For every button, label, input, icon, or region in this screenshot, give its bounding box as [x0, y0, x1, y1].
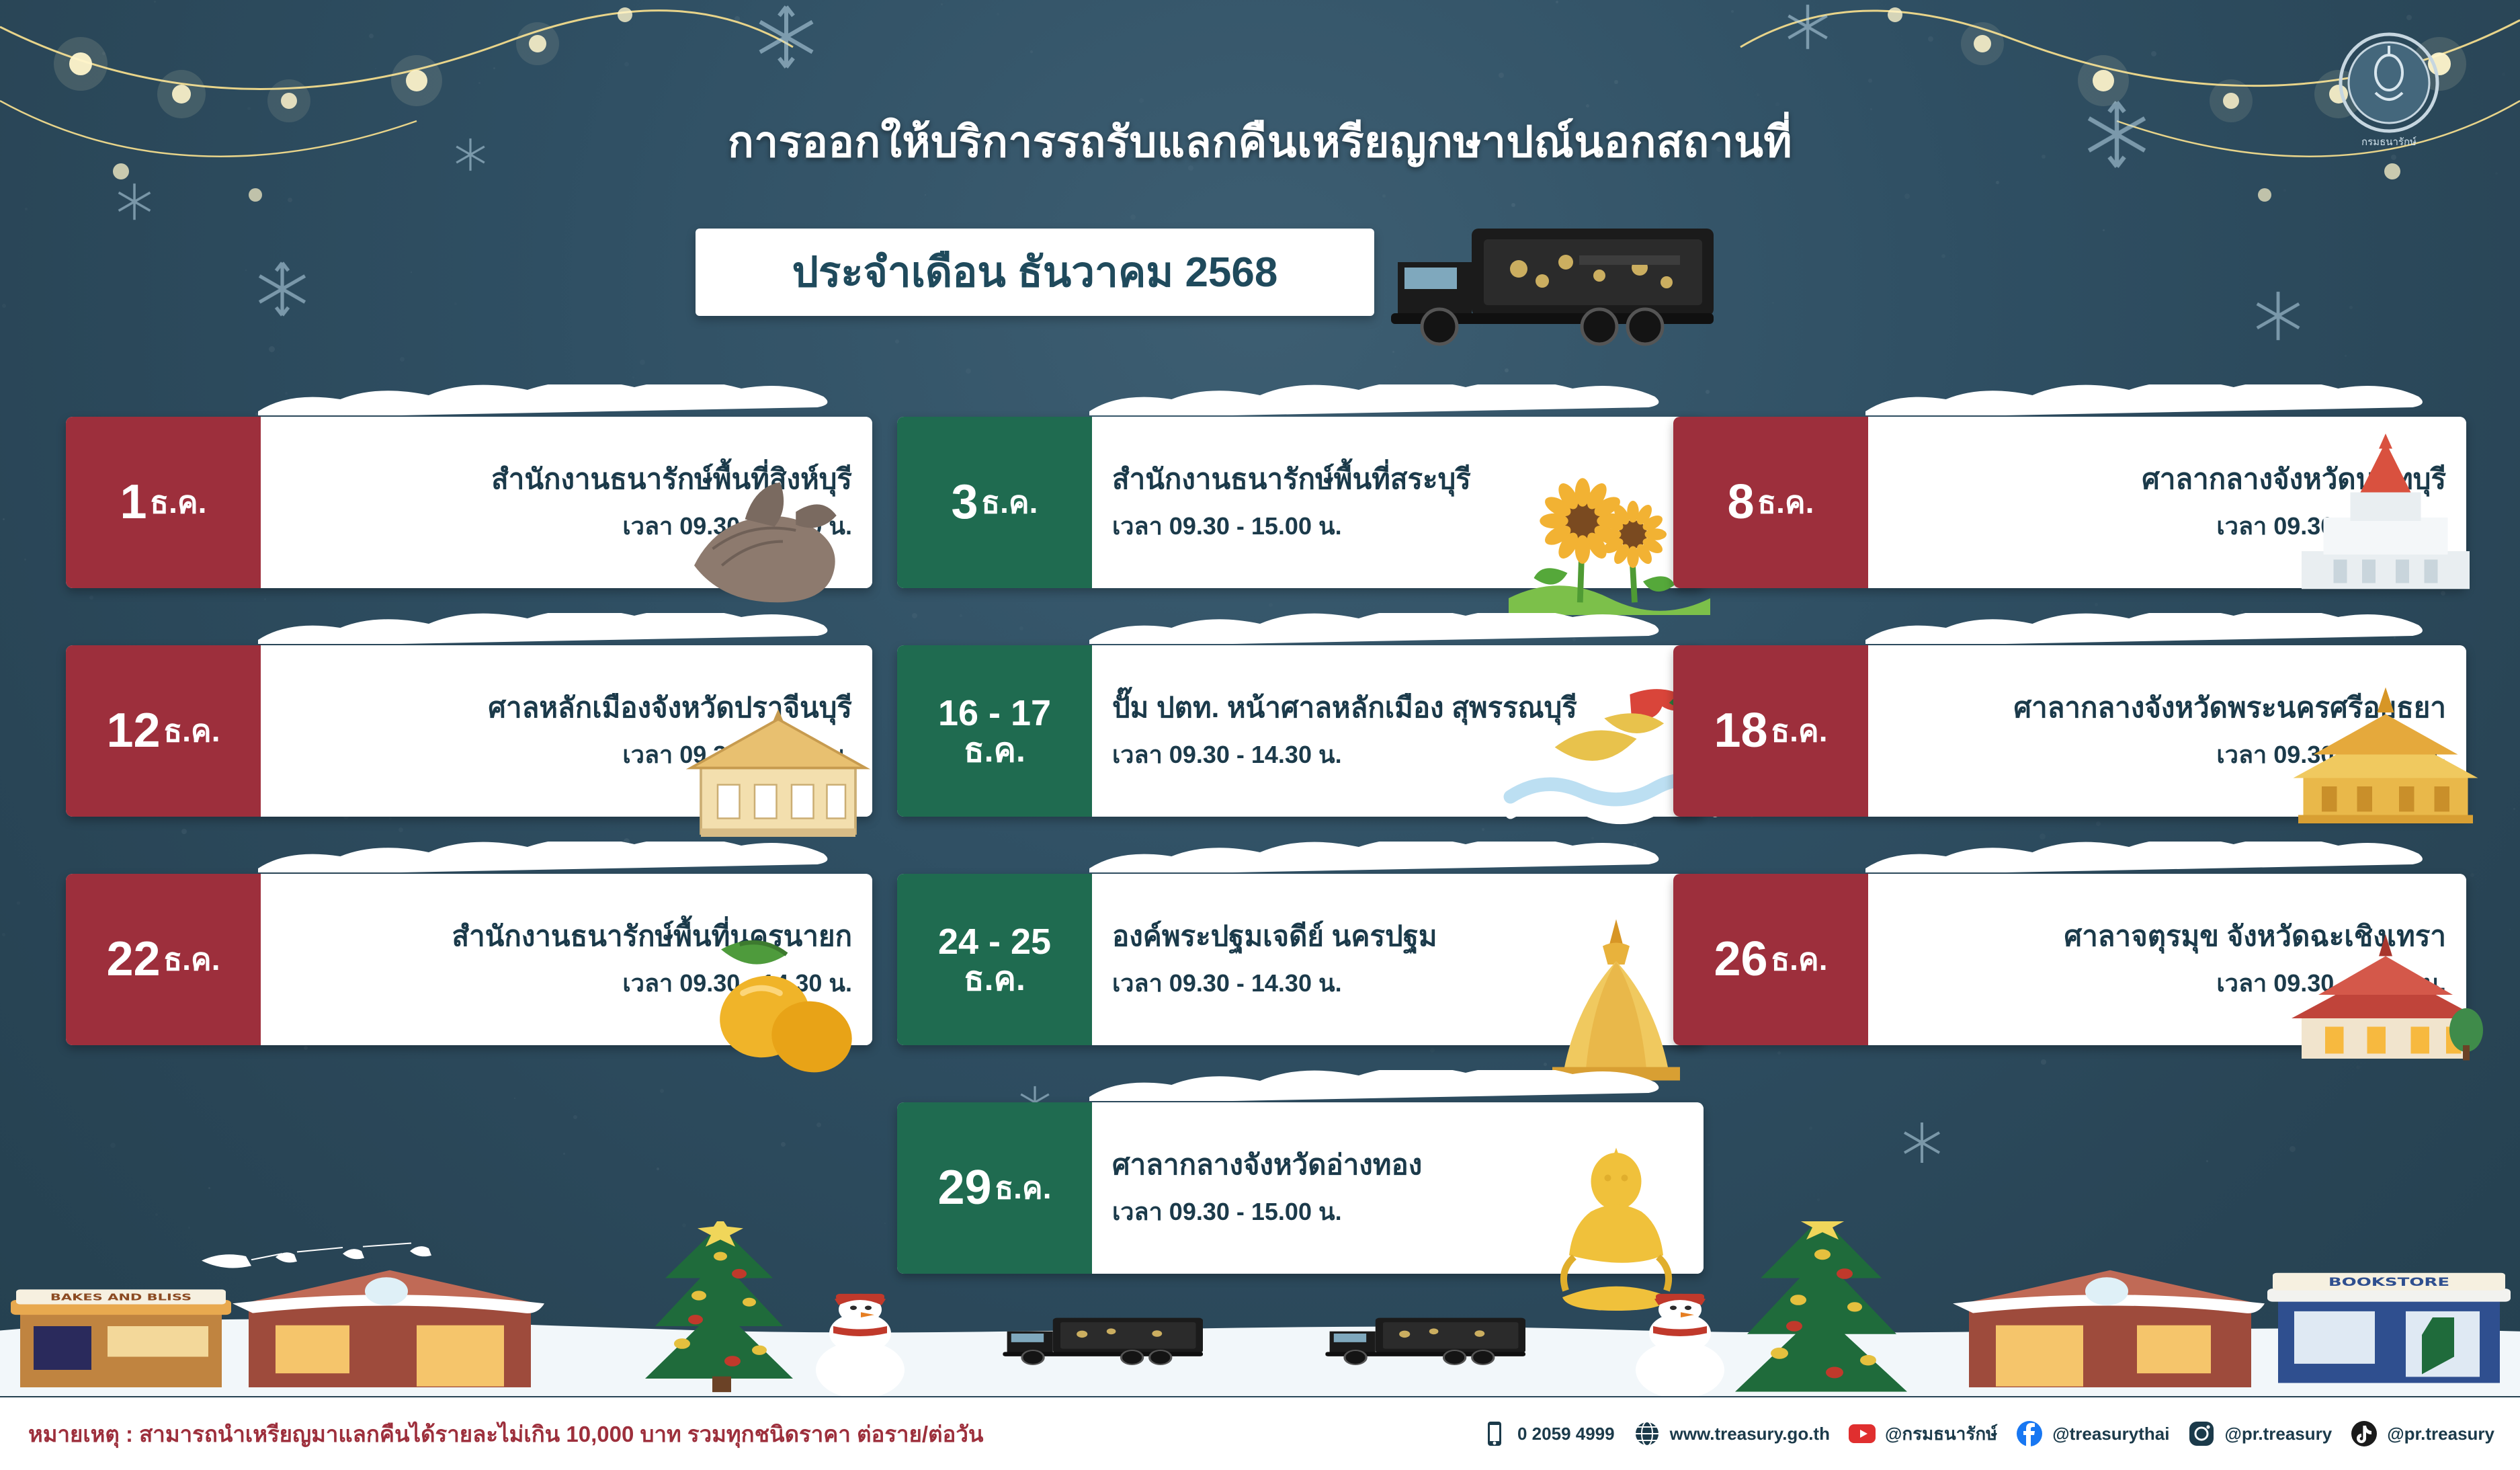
schedule-card-inner: 22 ธ.ค. สำนักงานธนารักษ์พื้นที่นครนายก เ… [66, 874, 872, 1045]
schedule-card-place: ศาลากลางจังหวัดอ่างทอง [1112, 1148, 1422, 1182]
schedule-card-day: 26 [1714, 934, 1768, 985]
schedule-card-date: 1 ธ.ค. [66, 417, 261, 588]
snow-cap [1868, 402, 2466, 433]
schedule-card-place: ศาลหลักเมืองจังหวัดปราจีนบุรี [488, 691, 852, 725]
contact-phone[interactable]: 0 2059 4999 [1480, 1419, 1615, 1448]
schedule-card-month: ธ.ค. [964, 733, 1025, 768]
schedule-card-body: ศาลหลักเมืองจังหวัดปราจีนบุรี เวลา 09.30… [261, 645, 872, 817]
snow-cap-decoration [258, 613, 875, 644]
schedule-card-place: ปั๊ม ปตท. หน้าศาลหลักเมือง สุพรรณบุรี [1112, 691, 1577, 725]
schedule-card-day: 12 [107, 706, 161, 757]
snow-cap [1092, 630, 1704, 661]
schedule-card-5: 16 - 17ธ.ค. ปั๊ม ปตท. หน้าศาลหลักเมือง ส… [897, 645, 1704, 817]
schedule-card-place: ศาลาจตุรมุข จังหวัดฉะเชิงเทรา [2064, 920, 2446, 953]
schedule-card-date: 3 ธ.ค. [897, 417, 1092, 588]
schedule-card-inner: 24 - 25ธ.ค. องค์พระปฐมเจดีย์ นครปฐม เวลา… [897, 874, 1704, 1045]
coin-exchange-truck-icon [1378, 195, 1754, 370]
schedule-card-month: ธ.ค. [964, 961, 1025, 997]
schedule-card-day: 22 [107, 934, 161, 985]
youtube-icon [1847, 1419, 1877, 1448]
schedule-card-month: ธ.ค. [981, 486, 1038, 518]
snow-cap-decoration [1865, 384, 2469, 415]
schedule-card-time: เวลา 09.30 - 14.30 น. [1112, 964, 1342, 1002]
contact-globe[interactable]: www.treasury.go.th [1632, 1419, 1830, 1448]
schedule-card-day: 8 [1728, 477, 1755, 528]
schedule-card-month: ธ.ค. [995, 1172, 1051, 1204]
snow-cap-decoration [1865, 613, 2469, 644]
schedule-card-day: 1 [120, 477, 147, 528]
footer-contacts: 0 2059 4999 www.treasury.go.th @กรมธนารั… [1480, 1419, 2520, 1448]
schedule-card-time: เวลา 09.30 - 14.30 น. [1112, 735, 1342, 774]
schedule-card-inner: 3 ธ.ค. สำนักงานธนารักษ์พื้นที่สระบุรี เว… [897, 417, 1704, 588]
globe-icon [1632, 1419, 1662, 1448]
schedule-card-inner: 18 ธ.ค. ศาลากลางจังหวัดพระนครศรีอยุธยา เ… [1673, 645, 2466, 817]
schedule-card-day: 18 [1714, 706, 1768, 757]
schedule-card-4: 12 ธ.ค. ศาลหลักเมืองจังหวัดปราจีนบุรี เว… [66, 645, 872, 817]
schedule-card-body: ศาลากลางจังหวัดพระนครศรีอยุธยา เวลา 09.3… [1868, 645, 2466, 817]
schedule-card-inner: 1 ธ.ค. สำนักงานธนารักษ์พื้นที่สิงห์บุรี … [66, 417, 872, 588]
contact-facebook[interactable]: @treasurythai [2015, 1419, 2169, 1448]
facebook-icon [2015, 1419, 2044, 1448]
schedule-grid: 1 ธ.ค. สำนักงานธนารักษ์พื้นที่สิงห์บุรี … [0, 417, 2520, 1223]
schedule-card-date: 12 ธ.ค. [66, 645, 261, 817]
schedule-card-2: 3 ธ.ค. สำนักงานธนารักษ์พื้นที่สระบุรี เว… [897, 417, 1704, 588]
contact-label: @pr.treasury [2387, 1424, 2494, 1444]
snow-cap-decoration [258, 384, 875, 415]
schedule-card-place: สำนักงานธนารักษ์พื้นที่สิงห์บุรี [491, 462, 852, 496]
schedule-card-body: สำนักงานธนารักษ์พื้นที่สิงห์บุรี เวลา 09… [261, 417, 872, 588]
snow-cap-decoration [1089, 1070, 1706, 1101]
schedule-card-day: 29 [938, 1163, 992, 1214]
schedule-card-month: ธ.ค. [150, 486, 206, 518]
contact-tiktok[interactable]: @pr.treasury [2349, 1419, 2494, 1448]
schedule-card-place: ศาลากลางจังหวัดพระนครศรีอยุธยา [2013, 691, 2446, 725]
schedule-card-date: 16 - 17ธ.ค. [897, 645, 1092, 817]
snow-cap [1092, 402, 1704, 433]
schedule-card-8: 24 - 25ธ.ค. องค์พระปฐมเจดีย์ นครปฐม เวลา… [897, 874, 1704, 1045]
contact-label: www.treasury.go.th [1670, 1424, 1830, 1444]
contact-label: @pr.treasury [2224, 1424, 2332, 1444]
schedule-card-6: 18 ธ.ค. ศาลากลางจังหวัดพระนครศรีอยุธยา เ… [1673, 645, 2466, 817]
snow-cap [261, 630, 872, 661]
schedule-card-body: ศาลากลางจังหวัดนนทบุรี เวลา 09.30 - 15.3… [1868, 417, 2466, 588]
contact-label: 0 2059 4999 [1517, 1424, 1615, 1444]
schedule-card-body: องค์พระปฐมเจดีย์ นครปฐม เวลา 09.30 - 14.… [1092, 874, 1704, 1045]
month-badge: ประจำเดือน ธันวาคม 2568 [696, 229, 1374, 316]
contact-youtube[interactable]: @กรมธนารักษ์ [1847, 1419, 1997, 1448]
schedule-card-month: ธ.ค. [1771, 943, 1827, 975]
schedule-card-place: สำนักงานธนารักษ์พื้นที่นครนายก [452, 920, 852, 953]
schedule-card-month: ธ.ค. [163, 943, 220, 975]
svg-text:BAKES AND BLISS: BAKES AND BLISS [50, 1293, 192, 1303]
contact-instagram[interactable]: @pr.treasury [2187, 1419, 2332, 1448]
phone-icon [1480, 1419, 1509, 1448]
footer-note: หมายเหตุ : สามารถนำเหรียญมาแลกคืนได้รายล… [0, 1416, 983, 1452]
schedule-card-7: 22 ธ.ค. สำนักงานธนารักษ์พื้นที่นครนายก เ… [66, 874, 872, 1045]
snow-cap-decoration [1089, 384, 1706, 415]
schedule-card-day: 3 [952, 477, 978, 528]
schedule-card-date: 26 ธ.ค. [1673, 874, 1868, 1045]
month-badge-label: ประจำเดือน ธันวาคม 2568 [792, 239, 1278, 305]
schedule-card-place: ศาลากลางจังหวัดนนทบุรี [2142, 462, 2446, 496]
schedule-card-inner: 16 - 17ธ.ค. ปั๊ม ปตท. หน้าศาลหลักเมือง ส… [897, 645, 1704, 817]
schedule-card-inner: 8 ธ.ค. ศาลากลางจังหวัดนนทบุรี เวลา 09.30… [1673, 417, 2466, 588]
schedule-card-time: เวลา 09.30 - 14.30 น. [2216, 964, 2446, 1002]
schedule-card-month: ธ.ค. [1771, 714, 1827, 747]
footer-bar: หมายเหตุ : สามารถนำเหรียญมาแลกคืนได้รายล… [0, 1397, 2520, 1470]
snow-cap-decoration [1089, 842, 1706, 872]
snow-cap [1868, 859, 2466, 890]
schedule-card-place: องค์พระปฐมเจดีย์ นครปฐม [1112, 920, 1437, 953]
snow-cap [261, 859, 872, 890]
tiktok-icon [2349, 1419, 2379, 1448]
schedule-card-body: สำนักงานธนารักษ์พื้นที่นครนายก เวลา 09.3… [261, 874, 872, 1045]
schedule-card-month: ธ.ค. [1757, 486, 1814, 518]
schedule-card-day: 24 - 25 [938, 923, 1051, 961]
schedule-card-3: 8 ธ.ค. ศาลากลางจังหวัดนนทบุรี เวลา 09.30… [1673, 417, 2466, 588]
schedule-card-date: 22 ธ.ค. [66, 874, 261, 1045]
schedule-card-body: ปั๊ม ปตท. หน้าศาลหลักเมือง สุพรรณบุรี เว… [1092, 645, 1704, 817]
schedule-card-body: สำนักงานธนารักษ์พื้นที่สระบุรี เวลา 09.3… [1092, 417, 1704, 588]
schedule-card-time: เวลา 09.30 - 15.00 น. [1112, 507, 1342, 545]
schedule-card-date: 24 - 25ธ.ค. [897, 874, 1092, 1045]
snow-cap-decoration [1865, 842, 2469, 872]
schedule-card-day: 16 - 17 [938, 694, 1051, 733]
schedule-card-time: เวลา 09.30 - 14.30 น. [622, 735, 852, 774]
schedule-card-1: 1 ธ.ค. สำนักงานธนารักษ์พื้นที่สิงห์บุรี … [66, 417, 872, 588]
schedule-card-body: ศาลาจตุรมุข จังหวัดฉะเชิงเทรา เวลา 09.30… [1868, 874, 2466, 1045]
schedule-card-inner: 12 ธ.ค. ศาลหลักเมืองจังหวัดปราจีนบุรี เว… [66, 645, 872, 817]
schedule-card-time: เวลา 09.30 - 15.30 น. [2216, 507, 2446, 545]
snow-cap-decoration [1089, 613, 1706, 644]
schedule-card-time: เวลา 09.30 - 15.00 น. [2216, 735, 2446, 774]
contact-label: @กรมธนารักษ์ [1885, 1420, 1997, 1448]
page-title: การออกให้บริการรถรับแลกคืนเหรียญกษาปณ์นอ… [0, 108, 2520, 176]
snow-cap [1092, 859, 1704, 890]
snow-cap-decoration [258, 842, 875, 872]
schedule-card-date: 18 ธ.ค. [1673, 645, 1868, 817]
schedule-card-inner: 26 ธ.ค. ศาลาจตุรมุข จังหวัดฉะเชิงเทรา เว… [1673, 874, 2466, 1045]
winter-village-scene: BAKES AND BLISS [0, 1221, 2520, 1396]
schedule-card-date: 8 ธ.ค. [1673, 417, 1868, 588]
contact-label: @treasurythai [2052, 1424, 2169, 1444]
snow-cap [1092, 1088, 1704, 1118]
schedule-card-place: สำนักงานธนารักษ์พื้นที่สระบุรี [1112, 462, 1471, 496]
schedule-card-time: เวลา 09.30 - 14.30 น. [622, 964, 852, 1002]
instagram-icon [2187, 1419, 2216, 1448]
snow-cap [1868, 630, 2466, 661]
schedule-card-time: เวลา 09.30 - 14.30 น. [622, 507, 852, 545]
snow-cap [261, 402, 872, 433]
schedule-card-9: 26 ธ.ค. ศาลาจตุรมุข จังหวัดฉะเชิงเทรา เว… [1673, 874, 2466, 1045]
schedule-card-month: ธ.ค. [163, 714, 220, 747]
svg-text:BOOKSTORE: BOOKSTORE [2328, 1276, 2449, 1289]
